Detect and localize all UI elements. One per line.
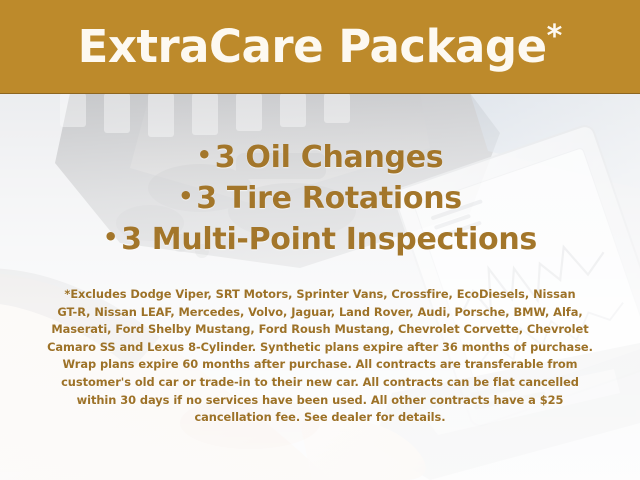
- list-item: •3 Multi-Point Inspections: [0, 218, 640, 259]
- bullet-icon: •: [103, 223, 121, 251]
- disclaimer-line: GT-R, Nissan LEAF, Mercedes, Volvo, Jagu…: [18, 304, 622, 322]
- page-title-text: ExtraCare Package: [78, 20, 547, 73]
- disclaimer-line: *Excludes Dodge Viper, SRT Motors, Sprin…: [18, 286, 622, 304]
- disclaimer-line: customer's old car or trade-in to their …: [18, 374, 622, 392]
- bullet-icon: •: [197, 141, 215, 169]
- disclaimer-line: Wrap plans expire 60 months after purcha…: [18, 356, 622, 374]
- benefit-label: 3 Multi-Point Inspections: [121, 222, 537, 257]
- benefit-label: 3 Oil Changes: [215, 140, 444, 175]
- bullet-icon: •: [178, 182, 196, 210]
- disclaimer-line: Maserati, Ford Shelby Mustang, Ford Rous…: [18, 321, 622, 339]
- benefit-label: 3 Tire Rotations: [196, 181, 462, 216]
- header-band: ExtraCare Package*: [0, 0, 640, 93]
- page-title-asterisk: *: [547, 19, 563, 54]
- disclaimer-line: Camaro SS and Lexus 8-Cylinder. Syntheti…: [18, 339, 622, 357]
- disclaimer-text-block: *Excludes Dodge Viper, SRT Motors, Sprin…: [18, 286, 622, 427]
- list-item: •3 Oil Changes: [0, 136, 640, 177]
- extracare-package-promo-card: ExtraCare Package* •3 Oil Changes •3 Tir…: [0, 0, 640, 480]
- list-item: •3 Tire Rotations: [0, 177, 640, 218]
- benefits-list: •3 Oil Changes •3 Tire Rotations •3 Mult…: [0, 136, 640, 259]
- disclaimer-line: within 30 days if no services have been …: [18, 392, 622, 410]
- disclaimer-line: cancellation fee. See dealer for details…: [18, 409, 622, 427]
- page-title: ExtraCare Package*: [78, 22, 563, 72]
